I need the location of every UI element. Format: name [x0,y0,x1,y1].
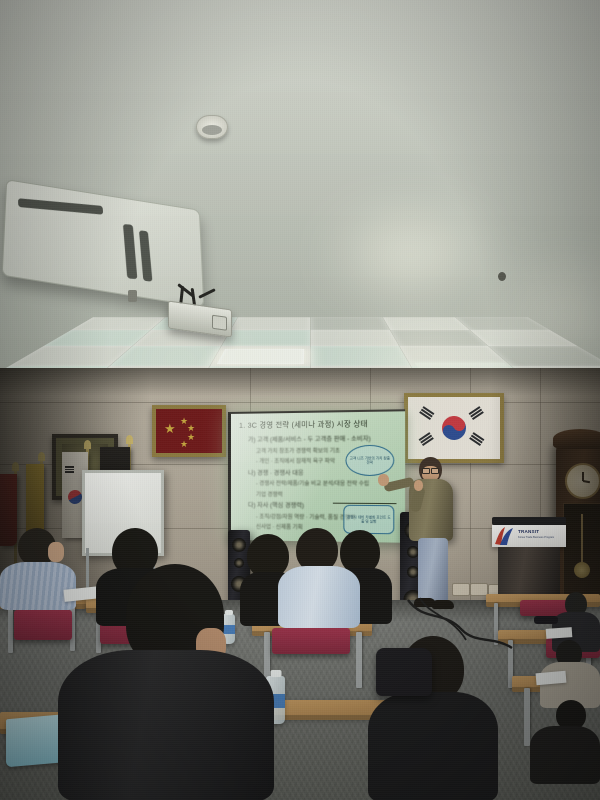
banner-logo-icon [494,526,516,546]
sprinkler-head-icon [498,272,506,281]
smoke-detector-icon [196,115,228,139]
power-outlet [452,583,470,596]
framed-flag-china: ★ ★ ★ ★ ★ [152,405,226,457]
banner-title: TRANSIT [518,529,564,534]
ceiling [0,0,600,400]
floor-cables [404,596,524,656]
taeguk-symbol-icon [438,412,471,445]
pencil-case [534,616,558,624]
sprinkler-head-icon [128,290,137,302]
air-conditioner-cassette [2,179,205,307]
glasses-icon [422,468,438,472]
chair [14,610,72,640]
banner-subtitle: Korea Trade Business Program [518,536,564,539]
presenter-jeans [418,538,448,602]
projector-lens-icon [212,315,227,331]
podium-banner: TRANSIT Korea Trade Business Program [492,525,566,547]
podium: TRANSIT Korea Trade Business Program [492,517,566,601]
classroom-photo: ★ ★ ★ ★ ★ [0,0,600,800]
framed-flag-korea [404,393,504,463]
handout-paper [546,627,573,639]
chair [272,628,350,654]
